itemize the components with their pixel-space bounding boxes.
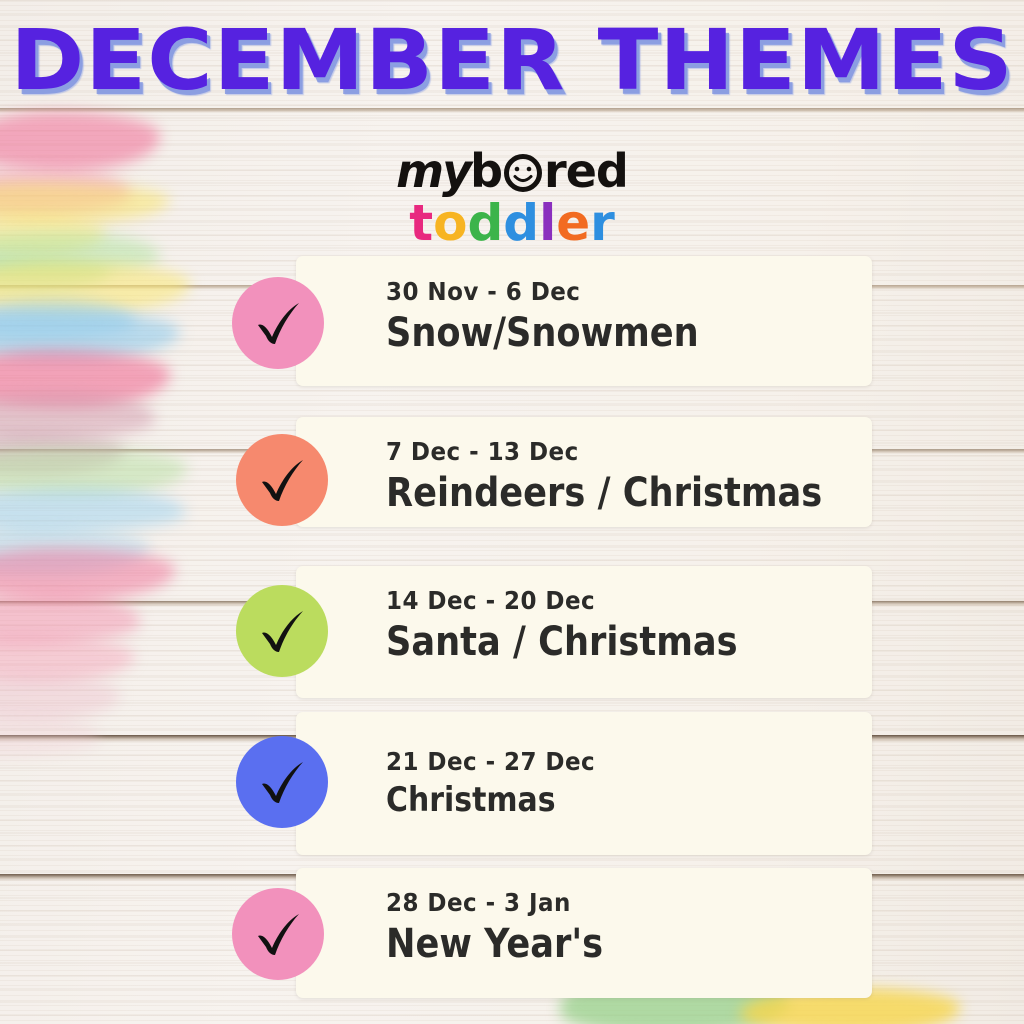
chalk-smudge — [0, 350, 170, 408]
logo-letter-o-1: o — [433, 198, 467, 248]
theme-date-range: 28 Dec - 3 Jan — [386, 888, 613, 918]
chalk-smudge — [0, 594, 140, 644]
checkmark-badge[interactable] — [236, 434, 328, 526]
checkmark-badge[interactable] — [232, 277, 324, 369]
check-icon — [247, 903, 309, 965]
page-title: DECEMBER THEMES — [0, 14, 1024, 106]
logo-letter-r-6: r — [590, 198, 615, 248]
checkmark-badge[interactable] — [236, 736, 328, 828]
chalk-smudge — [0, 528, 150, 574]
theme-name: New Year's — [386, 920, 603, 968]
logo-word-my: my — [396, 144, 470, 198]
theme-name: Reindeers / Christmas — [386, 469, 822, 517]
theme-date-range: 7 Dec - 13 Dec — [386, 437, 842, 467]
logo-word-red: red — [544, 144, 628, 198]
logo-letter-d-3: d — [503, 198, 539, 248]
brand-logo: myb red toddler — [0, 148, 1024, 248]
checkmark-badge[interactable] — [236, 585, 328, 677]
chalk-smudge — [0, 300, 135, 340]
check-icon — [251, 751, 313, 813]
theme-date-range: 14 Dec - 20 Dec — [386, 586, 754, 616]
logo-letter-t-0: t — [409, 198, 433, 248]
theme-name: Christmas — [386, 779, 586, 821]
theme-name: Santa / Christmas — [386, 618, 738, 666]
chalk-smudge — [0, 432, 125, 474]
theme-text-block: 14 Dec - 20 DecSanta / Christmas — [386, 586, 786, 666]
check-icon — [247, 292, 309, 354]
logo-line-toddler: toddler — [0, 198, 1024, 248]
theme-text-block: 30 Nov - 6 DecSnow/Snowmen — [386, 277, 741, 357]
checkmark-badge[interactable] — [232, 888, 324, 980]
theme-date-range: 30 Nov - 6 Dec — [386, 277, 713, 307]
logo-letter-l-4: l — [539, 198, 556, 248]
logo-line-mybored: myb red — [396, 148, 628, 194]
chalk-smudge — [0, 310, 180, 360]
logo-letter-d-2: d — [467, 198, 503, 248]
chalk-smudge — [0, 548, 175, 600]
theme-text-block: 7 Dec - 13 DecReindeers / Christmas — [386, 437, 882, 517]
logo-letter-e-5: e — [556, 198, 590, 248]
theme-date-range: 21 Dec - 27 Dec — [386, 747, 595, 777]
check-icon — [251, 600, 313, 662]
chalk-smudge — [0, 488, 185, 532]
logo-letter-b: b — [470, 144, 502, 198]
theme-text-block: 21 Dec - 27 DecChristmas — [386, 747, 613, 821]
smiley-face-icon — [503, 153, 543, 193]
chalk-smudge — [0, 676, 120, 720]
theme-text-block: 28 Dec - 3 JanNew Year's — [386, 888, 633, 968]
chalk-smudge — [0, 262, 190, 314]
chalk-smudge — [0, 392, 155, 440]
poster-canvas: DECEMBER THEMES myb red toddler 30 Nov -… — [0, 0, 1024, 1024]
theme-name: Snow/Snowmen — [386, 309, 699, 357]
chalk-smudge — [0, 448, 187, 496]
chalk-smudge — [0, 716, 100, 756]
chalk-smudge — [0, 256, 110, 292]
chalk-smudge — [0, 636, 135, 682]
check-icon — [251, 449, 313, 511]
